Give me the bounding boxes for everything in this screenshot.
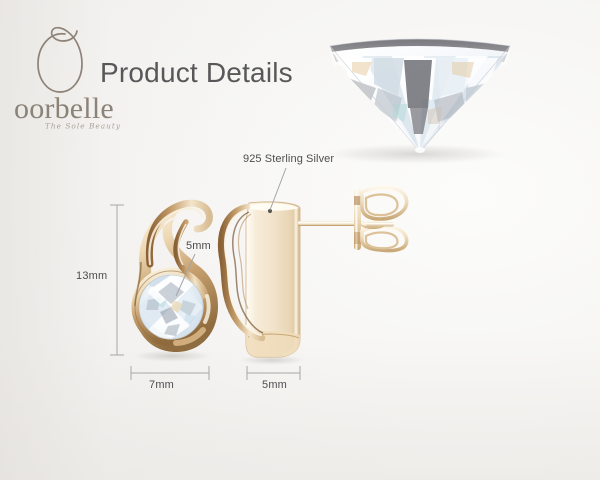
annotation-label-material: 925 Sterling Silver [243,153,334,165]
brilliant-cut-diamond-icon [330,39,510,153]
butterfly-clutch-icon [354,187,407,250]
brand-wordmark: oorbelle [14,94,132,124]
dimension-label-side-width: 5mm [262,379,287,391]
product-details-image: oorbelle The Sole Beauty Product Details… [0,0,600,480]
earring-side-view-icon [221,187,407,365]
earring-front-view-icon [130,203,218,362]
dimension-label-front-width: 7mm [149,379,174,391]
annotation-label-stone-size: 5mm [186,240,211,252]
page-title: Product Details [100,57,293,89]
dimension-label-height: 13mm [76,270,107,282]
brand-tagline: The Sole Beauty [38,122,128,130]
annotation-anchor-dot [268,209,272,213]
script-o-monogram-icon [32,22,94,102]
